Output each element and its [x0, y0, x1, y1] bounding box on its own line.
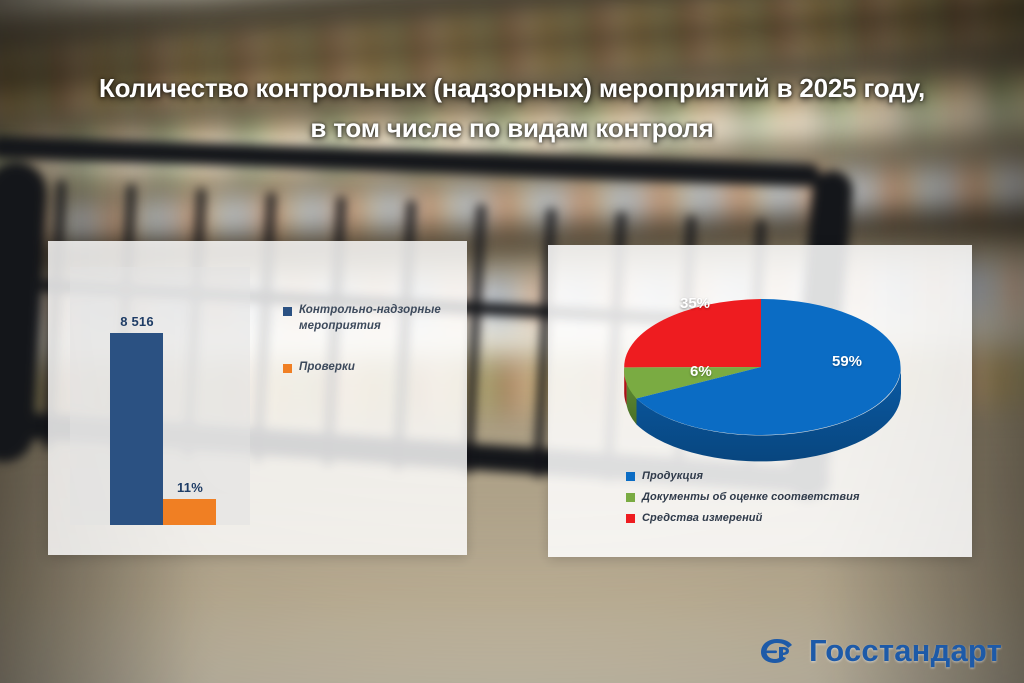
legend-item-inspections[interactable]: Проверки [283, 360, 458, 376]
legend-swatch-blue-icon [626, 472, 635, 481]
bar-value-label-primary: 8 516 [102, 314, 172, 329]
legend-item-measuring[interactable]: Средства измерений [626, 512, 860, 524]
legend-label-inspections: Проверки [299, 360, 355, 376]
bar-value-label-secondary: 11% [155, 480, 225, 495]
legend-swatch-blue-icon [283, 307, 292, 316]
legend-item-documents[interactable]: Документы об оценке соответствия [626, 491, 860, 503]
legend-swatch-red-icon [626, 514, 635, 523]
title-line-2: в том числе по видам контроля [28, 108, 996, 148]
bar-chart-legend: Контрольно-надзорные мероприятия Проверк… [283, 303, 458, 402]
pie-percent-documents: 6% [690, 363, 712, 380]
pie-percent-measuring: 35% [680, 295, 710, 312]
page-title: Количество контрольных (надзорных) мероп… [0, 68, 1024, 148]
legend-swatch-orange-icon [283, 364, 292, 373]
legend-label-products: Продукция [642, 470, 703, 482]
legend-label-measuring: Средства измерений [642, 512, 762, 524]
legend-item-control-supervisory-measures[interactable]: Контрольно-надзорные мероприятия [283, 303, 458, 334]
bar-chart-panel: 8 516 11% Контрольно-надзорные мероприят… [48, 241, 467, 555]
legend-label-documents: Документы об оценке соответствия [642, 491, 860, 503]
gosstandart-logo[interactable]: Госстандарт [758, 633, 1002, 669]
pie-chart-3d-graphic [596, 267, 926, 467]
bar-control-supervisory-measures[interactable] [110, 333, 163, 525]
bar-chart-plot-area: 8 516 11% [70, 267, 250, 525]
gosstandart-emblem-icon [758, 636, 798, 666]
bar-inspections[interactable] [163, 499, 216, 525]
title-line-1: Количество контрольных (надзорных) мероп… [99, 73, 925, 103]
pie-chart-plot-area: 59% 35% 6% [596, 267, 926, 467]
legend-swatch-green-icon [626, 493, 635, 502]
gosstandart-logo-text: Госстандарт [809, 633, 1002, 669]
infographic-slide: Количество контрольных (надзорных) мероп… [0, 0, 1024, 683]
legend-item-products[interactable]: Продукция [626, 470, 860, 482]
legend-label-control-supervisory-measures: Контрольно-надзорные мероприятия [299, 303, 458, 334]
pie-percent-products: 59% [832, 353, 862, 370]
pie-chart-panel: 59% 35% 6% Продукция Документы об оценке… [548, 245, 972, 557]
pie-chart-legend: Продукция Документы об оценке соответств… [626, 470, 860, 533]
